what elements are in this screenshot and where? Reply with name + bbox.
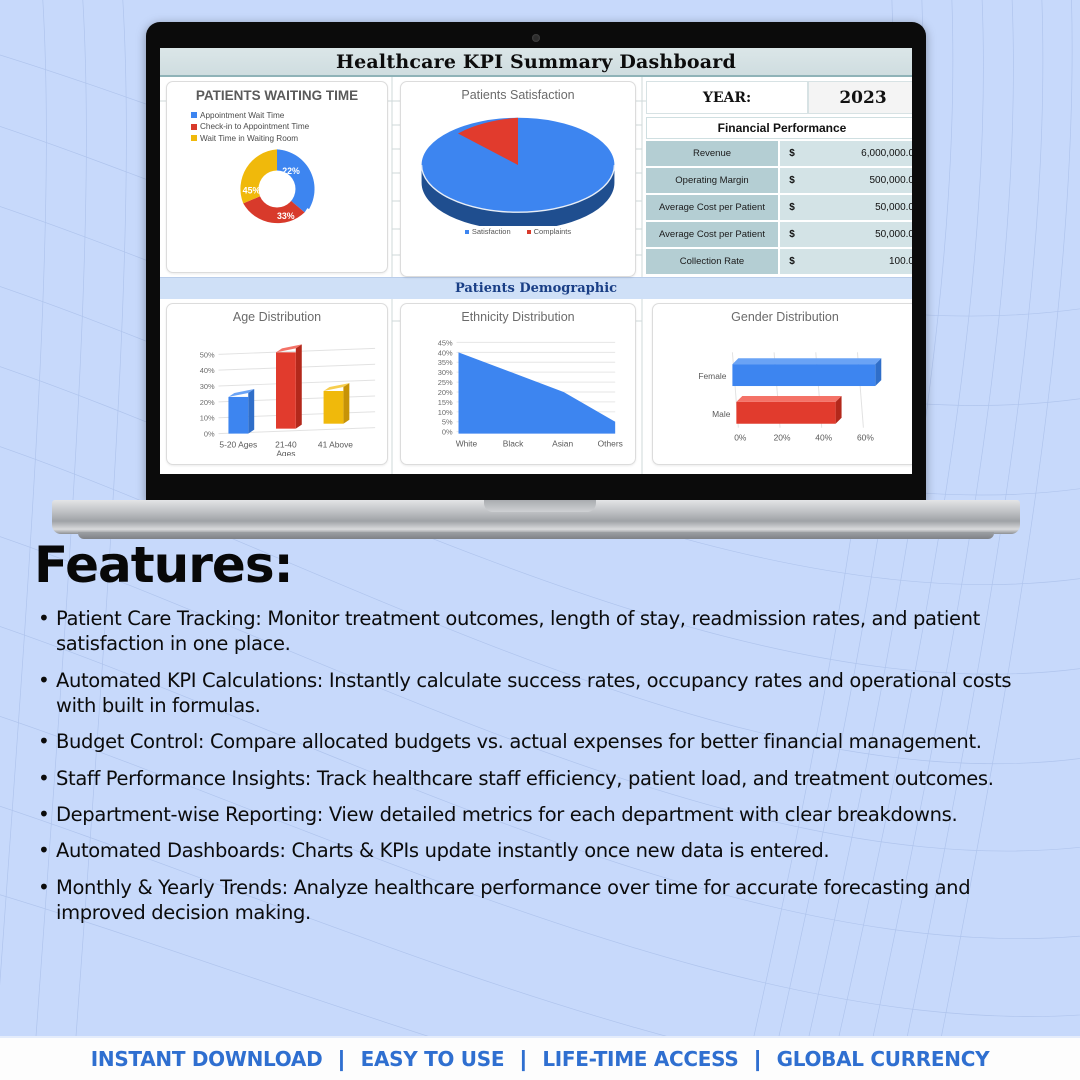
svg-text:Male: Male [712, 409, 731, 419]
svg-text:White: White [456, 439, 478, 449]
svg-text:20%: 20% [438, 388, 453, 397]
legend-swatch-red-icon [527, 230, 531, 234]
dashboard-bottom-row: Age Distribution 50%40% 30%20% [160, 299, 912, 474]
svg-text:0%: 0% [442, 428, 453, 437]
svg-text:60%: 60% [857, 433, 874, 443]
metric-value[interactable]: 6,000,000.0 [804, 141, 912, 166]
list-item: Monthly & Yearly Trends: Analyze healthc… [34, 875, 1046, 926]
donut-label-red: 33% [277, 211, 295, 221]
list-item: Department-wise Reporting: View detailed… [34, 802, 1046, 827]
svg-text:41 Above: 41 Above [318, 439, 353, 449]
svg-text:Others: Others [598, 439, 623, 449]
svg-text:40%: 40% [438, 348, 453, 357]
svg-text:50%: 50% [200, 350, 215, 359]
banner-item-instant-download: INSTANT DOWNLOAD [91, 1047, 323, 1071]
metric-name: Average Cost per Patient [646, 222, 780, 247]
legend-label: Wait Time in Waiting Room [200, 134, 298, 143]
patients-demographic-banner: Patients Demographic [160, 277, 912, 299]
kpi-data-block: YEAR: 2023 Financial Performance Revenue… [646, 81, 912, 274]
svg-text:40%: 40% [200, 366, 215, 375]
age-chart-title: Age Distribution [167, 304, 387, 324]
waiting-chart-legend: Appointment Wait Time Check-in to Appoin… [167, 107, 387, 143]
list-item: Patient Care Tracking: Monitor treatment… [34, 606, 1046, 657]
banner-separator: | [754, 1046, 760, 1072]
table-row: Revenue $ 6,000,000.0 [646, 141, 912, 166]
metric-name: Operating Margin [646, 168, 780, 193]
banner-item-global-currency: GLOBAL CURRENCY [777, 1047, 990, 1071]
features-heading: Features: [34, 536, 1046, 594]
svg-text:Female: Female [698, 371, 726, 381]
laptop-screen-bezel: Healthcare KPI Summary Dashboard [146, 22, 926, 504]
waiting-donut-chart: 22% 33% 45% [167, 145, 387, 233]
currency-symbol: $ [780, 195, 804, 220]
patients-waiting-time-panel[interactable]: PATIENTS WAITING TIME Appointment Wait T… [166, 81, 388, 273]
satisfaction-legend: Satisfaction Complaints [401, 227, 635, 236]
svg-text:20%: 20% [774, 433, 791, 443]
ethnicity-distribution-chart: 45%40% 35%30% 25%20% 15%10% 5%0% WhiteBl… [401, 324, 635, 456]
financial-performance-header: Financial Performance [646, 117, 912, 139]
svg-text:20%: 20% [200, 398, 215, 407]
legend-label: Check-in to Appointment Time [200, 122, 309, 131]
svg-text:0%: 0% [734, 433, 747, 443]
svg-text:35%: 35% [438, 358, 453, 367]
dashboard-title: Healthcare KPI Summary Dashboard [160, 48, 912, 77]
dashboard-top-row: PATIENTS WAITING TIME Appointment Wait T… [160, 77, 912, 277]
currency-symbol: $ [780, 249, 804, 274]
year-value-cell[interactable]: 2023 [808, 81, 912, 114]
banner-separator: | [520, 1046, 526, 1072]
features-section: Features: Patient Care Tracking: Monitor… [0, 536, 1080, 936]
svg-text:10%: 10% [200, 414, 215, 423]
patients-satisfaction-panel[interactable]: Patients Satisfaction [400, 81, 636, 277]
currency-symbol: $ [780, 141, 804, 166]
list-item: Budget Control: Compare allocated budget… [34, 729, 1046, 754]
legend-swatch-blue-icon [465, 230, 469, 234]
list-item: Automated KPI Calculations: Instantly ca… [34, 668, 1046, 719]
table-row: Operating Margin $ 500,000.0 [646, 168, 912, 193]
legend-item: Check-in to Appointment Time [191, 122, 387, 131]
svg-text:25%: 25% [438, 378, 453, 387]
webcam-icon [532, 34, 540, 42]
donut-label-yellow: 45% [243, 186, 261, 196]
gender-distribution-panel[interactable]: Gender Distribution [652, 303, 912, 465]
bottom-banner: INSTANT DOWNLOAD | EASY TO USE | LIFE-TI… [0, 1036, 1080, 1080]
table-row: Collection Rate $ 100.0 [646, 249, 912, 274]
svg-text:0%: 0% [204, 430, 215, 439]
table-row: Average Cost per Patient $ 50,000.0 [646, 195, 912, 220]
list-item: Staff Performance Insights: Track health… [34, 766, 1046, 791]
svg-text:15%: 15% [438, 398, 453, 407]
table-row: Average Cost per Patient $ 50,000.0 [646, 222, 912, 247]
legend-item: Appointment Wait Time [191, 111, 387, 120]
currency-symbol: $ [780, 222, 804, 247]
svg-text:Ages: Ages [276, 448, 295, 456]
legend-label: Satisfaction [472, 227, 511, 236]
svg-text:5-20 Ages: 5-20 Ages [219, 439, 257, 449]
svg-text:5%: 5% [442, 418, 453, 427]
svg-text:30%: 30% [200, 382, 215, 391]
metric-name: Collection Rate [646, 249, 780, 274]
legend-label: Complaints [534, 227, 572, 236]
metric-value[interactable]: 100.0 [804, 249, 912, 274]
metric-name: Average Cost per Patient [646, 195, 780, 220]
legend-swatch-yellow-icon [191, 135, 197, 141]
laptop-mockup: Healthcare KPI Summary Dashboard [0, 22, 1080, 532]
legend-item: Wait Time in Waiting Room [191, 134, 387, 143]
svg-text:45%: 45% [438, 338, 453, 347]
metric-value[interactable]: 50,000.0 [804, 195, 912, 220]
svg-text:10%: 10% [438, 408, 453, 417]
donut-label-blue: 22% [282, 166, 300, 176]
svg-text:40%: 40% [815, 433, 832, 443]
gender-distribution-chart: FemaleMale 0%20% 40%60% [653, 324, 912, 456]
legend-swatch-blue-icon [191, 112, 197, 118]
metric-value[interactable]: 50,000.0 [804, 222, 912, 247]
metric-name: Revenue [646, 141, 780, 166]
age-distribution-chart: 50%40% 30%20% 10%0% [167, 324, 387, 456]
banner-item-life-time-access: LIFE-TIME ACCESS [542, 1047, 738, 1071]
svg-text:Black: Black [503, 439, 524, 449]
currency-symbol: $ [780, 168, 804, 193]
banner-item-easy-to-use: EASY TO USE [361, 1047, 505, 1071]
legend-swatch-red-icon [191, 124, 197, 130]
waiting-chart-title: PATIENTS WAITING TIME [167, 82, 387, 107]
legend-item: Complaints [527, 227, 572, 236]
laptop-trackpad-notch [484, 500, 596, 512]
banner-separator: | [338, 1046, 344, 1072]
gender-chart-title: Gender Distribution [653, 304, 912, 324]
legend-label: Appointment Wait Time [200, 111, 284, 120]
svg-text:30%: 30% [438, 368, 453, 377]
features-list: Patient Care Tracking: Monitor treatment… [34, 606, 1046, 925]
age-distribution-panel[interactable]: Age Distribution 50%40% 30%20% [166, 303, 388, 465]
satisfaction-pie-chart [401, 104, 635, 226]
svg-text:Asian: Asian [552, 439, 573, 449]
year-row: YEAR: 2023 [646, 81, 912, 114]
list-item: Automated Dashboards: Charts & KPIs upda… [34, 838, 1046, 863]
ethnicity-chart-title: Ethnicity Distribution [401, 304, 635, 324]
year-label: YEAR: [646, 81, 808, 114]
dashboard-viewport: Healthcare KPI Summary Dashboard [160, 48, 912, 474]
metric-value[interactable]: 500,000.0 [804, 168, 912, 193]
ethnicity-distribution-panel[interactable]: Ethnicity Distribution 45%40% 35%30% [400, 303, 636, 465]
legend-item: Satisfaction [465, 227, 511, 236]
satisfaction-chart-title: Patients Satisfaction [401, 82, 635, 102]
